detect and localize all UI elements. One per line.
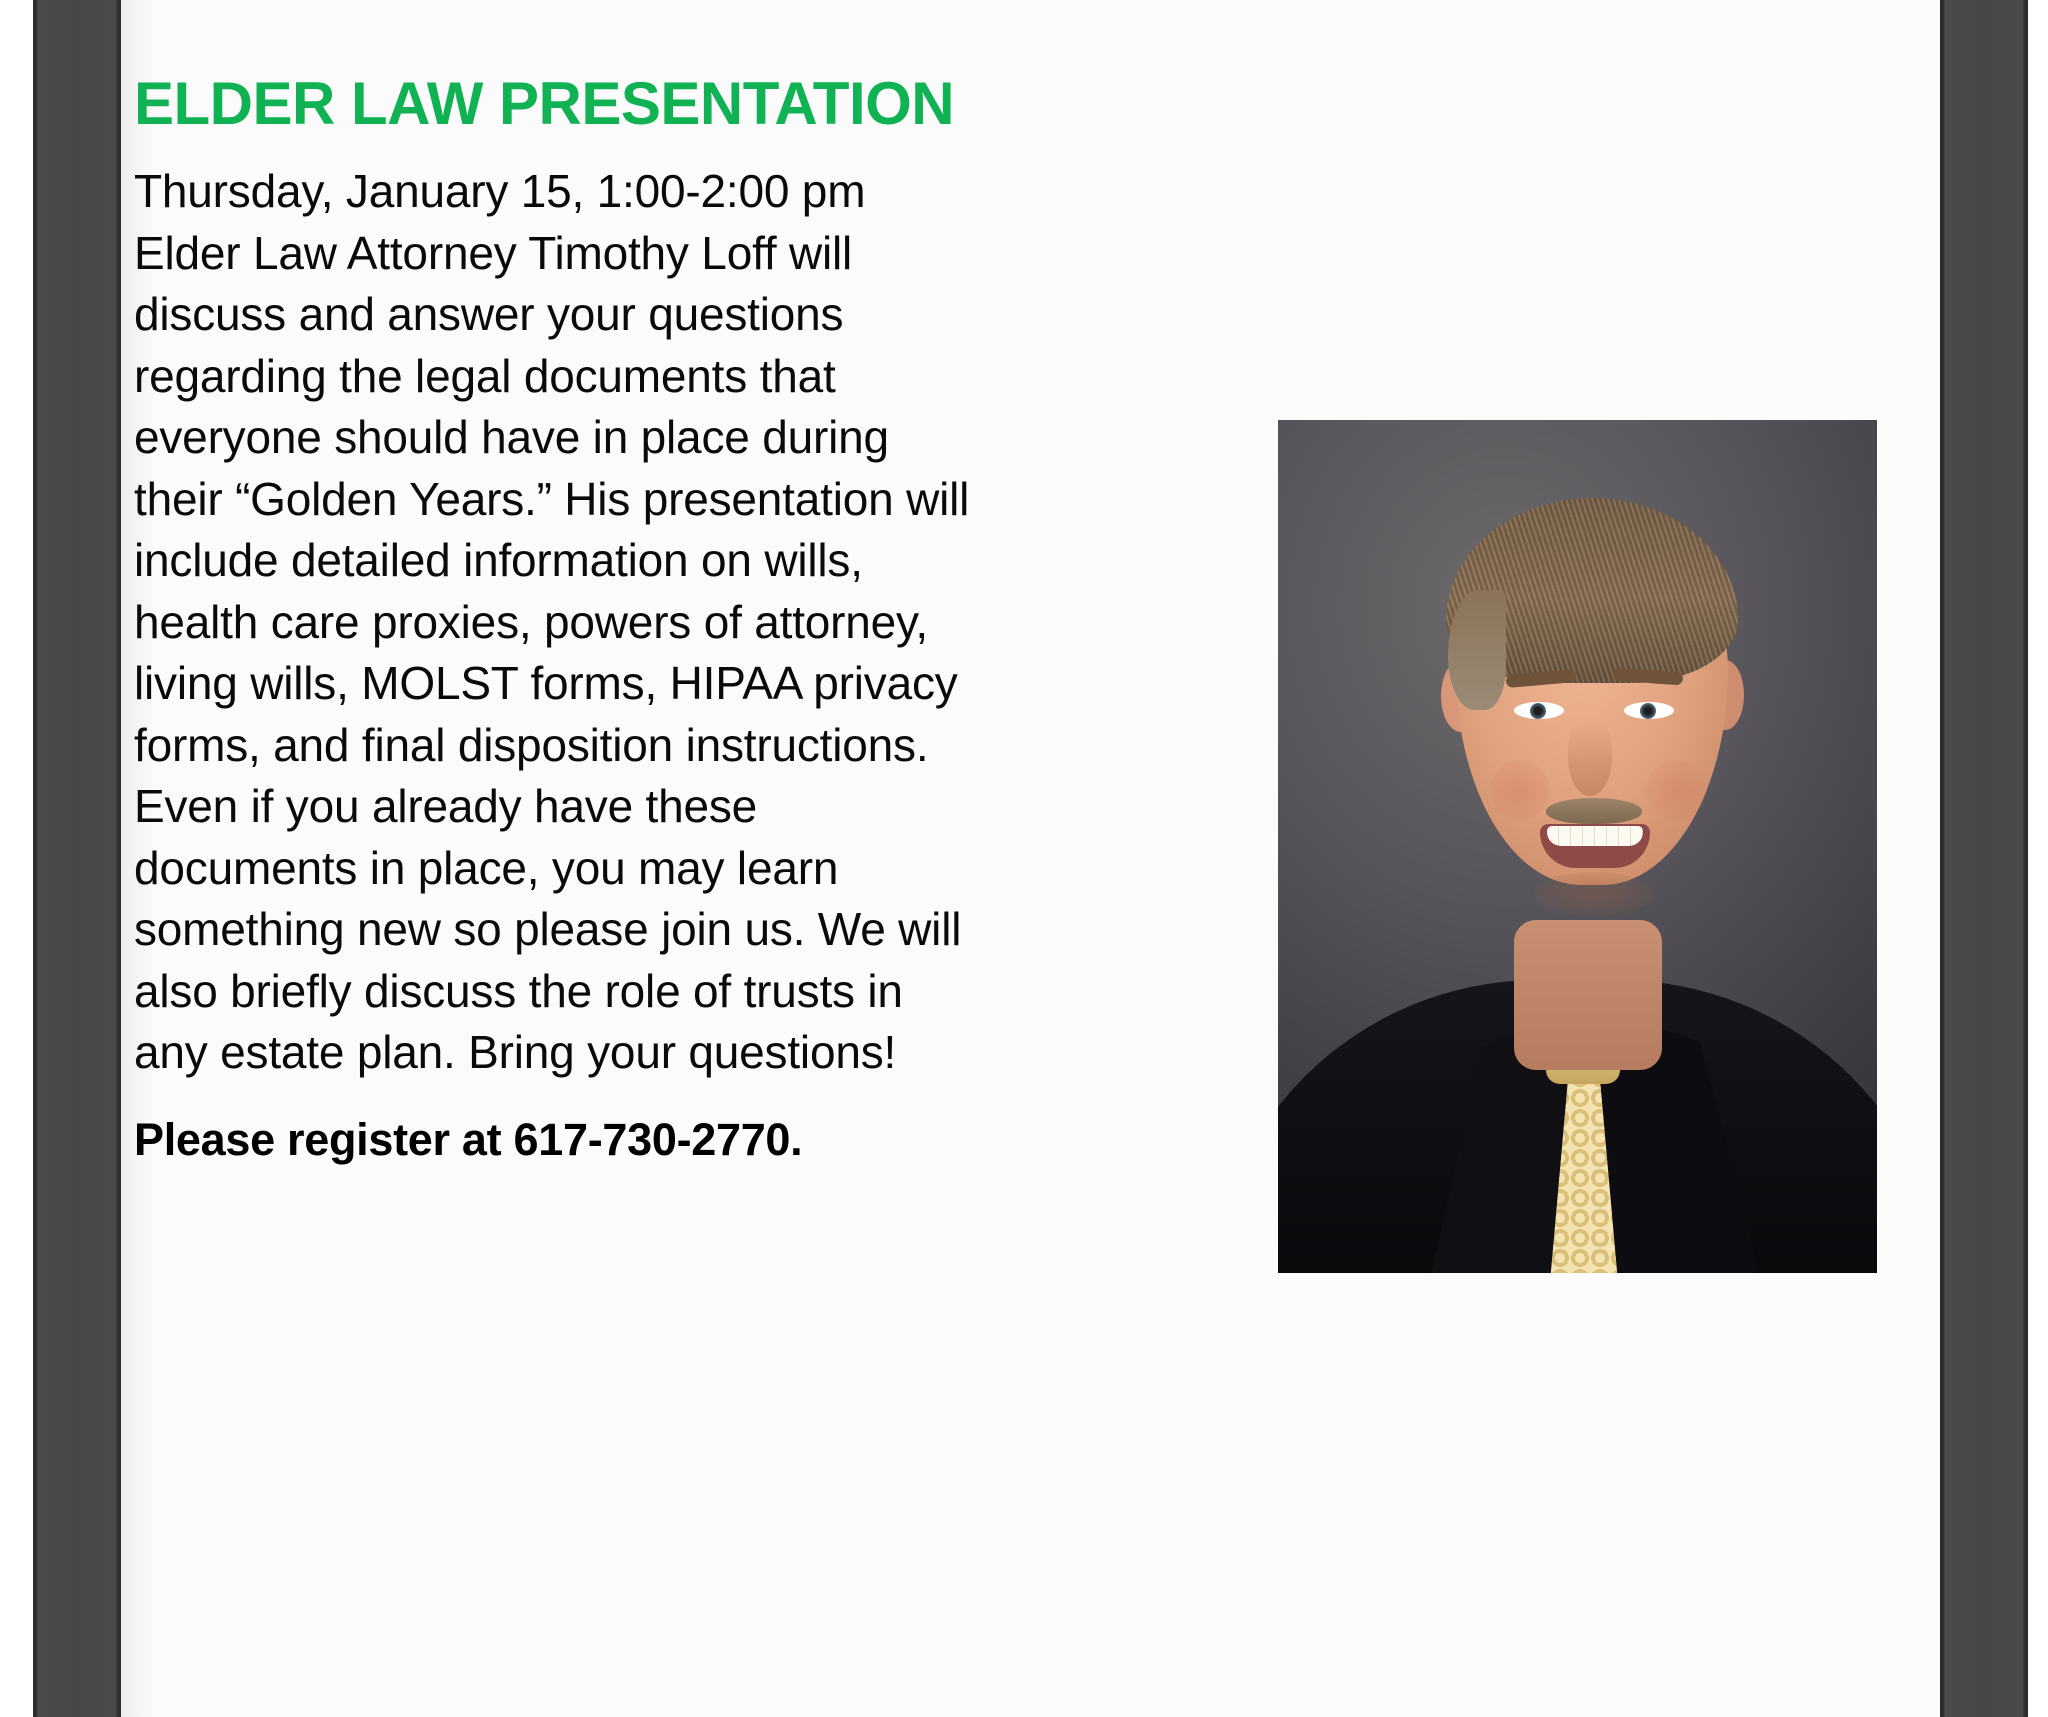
portrait-hair-temple bbox=[1448, 590, 1506, 710]
portrait-cheek-right bbox=[1646, 760, 1706, 820]
right-frame-bar bbox=[1940, 0, 2028, 1717]
registration-phone-line: Please register at 617-730-2770. bbox=[134, 1114, 974, 1166]
left-frame-bar bbox=[33, 0, 121, 1717]
flyer-body-text: Thursday, January 15, 1:00-2:00 pm Elder… bbox=[134, 161, 972, 1084]
speaker-portrait-photo bbox=[1278, 420, 1877, 1273]
flyer-page-surface: ELDER LAW PRESENTATION Thursday, January… bbox=[121, 0, 1940, 1717]
portrait-mustache bbox=[1546, 798, 1642, 824]
page-title: ELDER LAW PRESENTATION bbox=[134, 72, 974, 135]
portrait-neck bbox=[1514, 920, 1662, 1070]
portrait-nose bbox=[1568, 720, 1612, 796]
portrait-eye-left bbox=[1514, 702, 1564, 719]
portrait-iris-right bbox=[1640, 703, 1656, 719]
elder-law-flyer: ELDER LAW PRESENTATION Thursday, January… bbox=[0, 0, 2048, 1717]
portrait-chin-shadow bbox=[1534, 872, 1654, 916]
portrait-iris-left bbox=[1530, 703, 1546, 719]
flyer-text-column: ELDER LAW PRESENTATION Thursday, January… bbox=[134, 72, 974, 1165]
portrait-cheek-left bbox=[1490, 760, 1550, 820]
portrait-eye-right bbox=[1624, 702, 1674, 719]
portrait-mouth bbox=[1540, 824, 1650, 868]
portrait-teeth bbox=[1547, 826, 1643, 846]
